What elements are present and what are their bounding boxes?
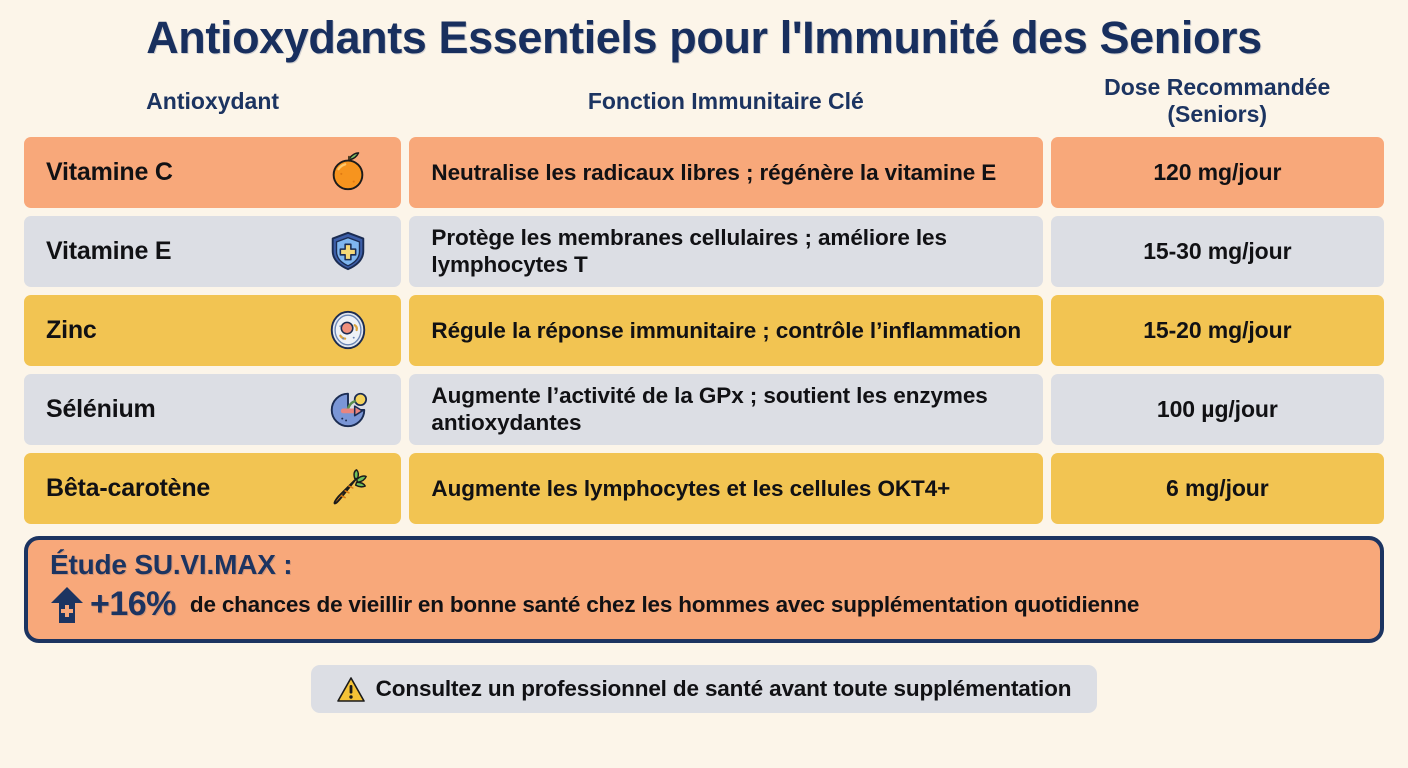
- header-antioxidant: Antioxydant: [24, 74, 401, 116]
- dose-text: 120 mg/jour: [1153, 159, 1281, 186]
- cell-function: Régule la réponse immunitaire ; contrôle…: [409, 295, 1042, 366]
- table-row: Sélénium Augmente l’activité de la GPx ;…: [24, 374, 1384, 445]
- orange-fruit-icon: [325, 149, 371, 195]
- warning-triangle-icon: [337, 675, 365, 703]
- shield-plus-icon: [325, 228, 371, 274]
- function-text: Régule la réponse immunitaire ; contrôle…: [431, 317, 1021, 344]
- cell-function: Augmente l’activité de la GPx ; soutient…: [409, 374, 1042, 445]
- table-row: Vitamine E Protège les membranes cellula…: [24, 216, 1384, 287]
- cell-dose: 120 mg/jour: [1051, 137, 1384, 208]
- study-percent: +16%: [90, 585, 176, 624]
- antioxidant-name: Vitamine E: [46, 237, 171, 266]
- header-dose: Dose Recommandée (Seniors): [1050, 74, 1384, 129]
- function-text: Augmente l’activité de la GPx ; soutient…: [431, 382, 1034, 437]
- cell-function: Protège les membranes cellulaires ; amél…: [409, 216, 1042, 287]
- cell-function: Augmente les lymphocytes et les cellules…: [409, 453, 1042, 524]
- cell-antioxidant: Vitamine E: [24, 216, 401, 287]
- function-text: Neutralise les radicaux libres ; régénèr…: [431, 159, 996, 186]
- up-arrow-plus-icon: [50, 585, 84, 625]
- disclaimer-bar: Consultez un professionnel de santé avan…: [311, 665, 1098, 713]
- dose-text: 15-20 mg/jour: [1143, 317, 1291, 344]
- cell-antioxidant: Bêta-carotène: [24, 453, 401, 524]
- enzyme-reaction-icon: [325, 386, 371, 432]
- antioxidant-name: Zinc: [46, 316, 97, 345]
- cell-antioxidant: Vitamine C: [24, 137, 401, 208]
- function-text: Augmente les lymphocytes et les cellules…: [431, 475, 950, 502]
- cell-dose: 15-20 mg/jour: [1051, 295, 1384, 366]
- footer-area: Consultez un professionnel de santé avan…: [0, 665, 1408, 713]
- study-stat-line: +16% de chances de vieillir en bonne san…: [50, 585, 1362, 625]
- header-dose-line2: (Seniors): [1050, 101, 1384, 129]
- cell-antioxidant: Zinc: [24, 295, 401, 366]
- antioxidant-name: Vitamine C: [46, 158, 173, 187]
- table-row: Bêta-carotène Augmente les lymphocytes e…: [24, 453, 1384, 524]
- study-description: de chances de vieillir en bonne santé ch…: [190, 592, 1139, 618]
- dose-text: 100 µg/jour: [1157, 396, 1278, 423]
- dose-text: 15-30 mg/jour: [1143, 238, 1291, 265]
- infographic-page: Antioxydants Essentiels pour l'Immunité …: [0, 0, 1408, 768]
- cell-nucleus-icon: [325, 307, 371, 353]
- dose-text: 6 mg/jour: [1166, 475, 1269, 502]
- table-row: Vitamine C Neutralise les radicaux libre…: [24, 137, 1384, 208]
- header-function: Fonction Immunitaire Clé: [409, 74, 1042, 116]
- cell-dose: 100 µg/jour: [1051, 374, 1384, 445]
- header-dose-line1: Dose Recommandée: [1104, 74, 1330, 100]
- carrot-icon: [325, 465, 371, 511]
- study-callout: Étude SU.VI.MAX : +16% de chances de vie…: [24, 536, 1384, 643]
- cell-dose: 6 mg/jour: [1051, 453, 1384, 524]
- disclaimer-text: Consultez un professionnel de santé avan…: [376, 676, 1072, 702]
- antioxidant-name: Sélénium: [46, 395, 156, 424]
- table-row: Zinc Régule la réponse immunitaire: [24, 295, 1384, 366]
- function-text: Protège les membranes cellulaires ; amél…: [431, 224, 1034, 279]
- cell-antioxidant: Sélénium: [24, 374, 401, 445]
- cell-function: Neutralise les radicaux libres ; régénèr…: [409, 137, 1042, 208]
- antioxidant-name: Bêta-carotène: [46, 474, 210, 503]
- column-headers: Antioxydant Fonction Immunitaire Clé Dos…: [24, 74, 1384, 129]
- page-title: Antioxydants Essentiels pour l'Immunité …: [0, 0, 1408, 64]
- cell-dose: 15-30 mg/jour: [1051, 216, 1384, 287]
- antioxidant-table: Vitamine C Neutralise les radicaux libre…: [24, 137, 1384, 524]
- study-label: Étude SU.VI.MAX :: [50, 549, 1362, 581]
